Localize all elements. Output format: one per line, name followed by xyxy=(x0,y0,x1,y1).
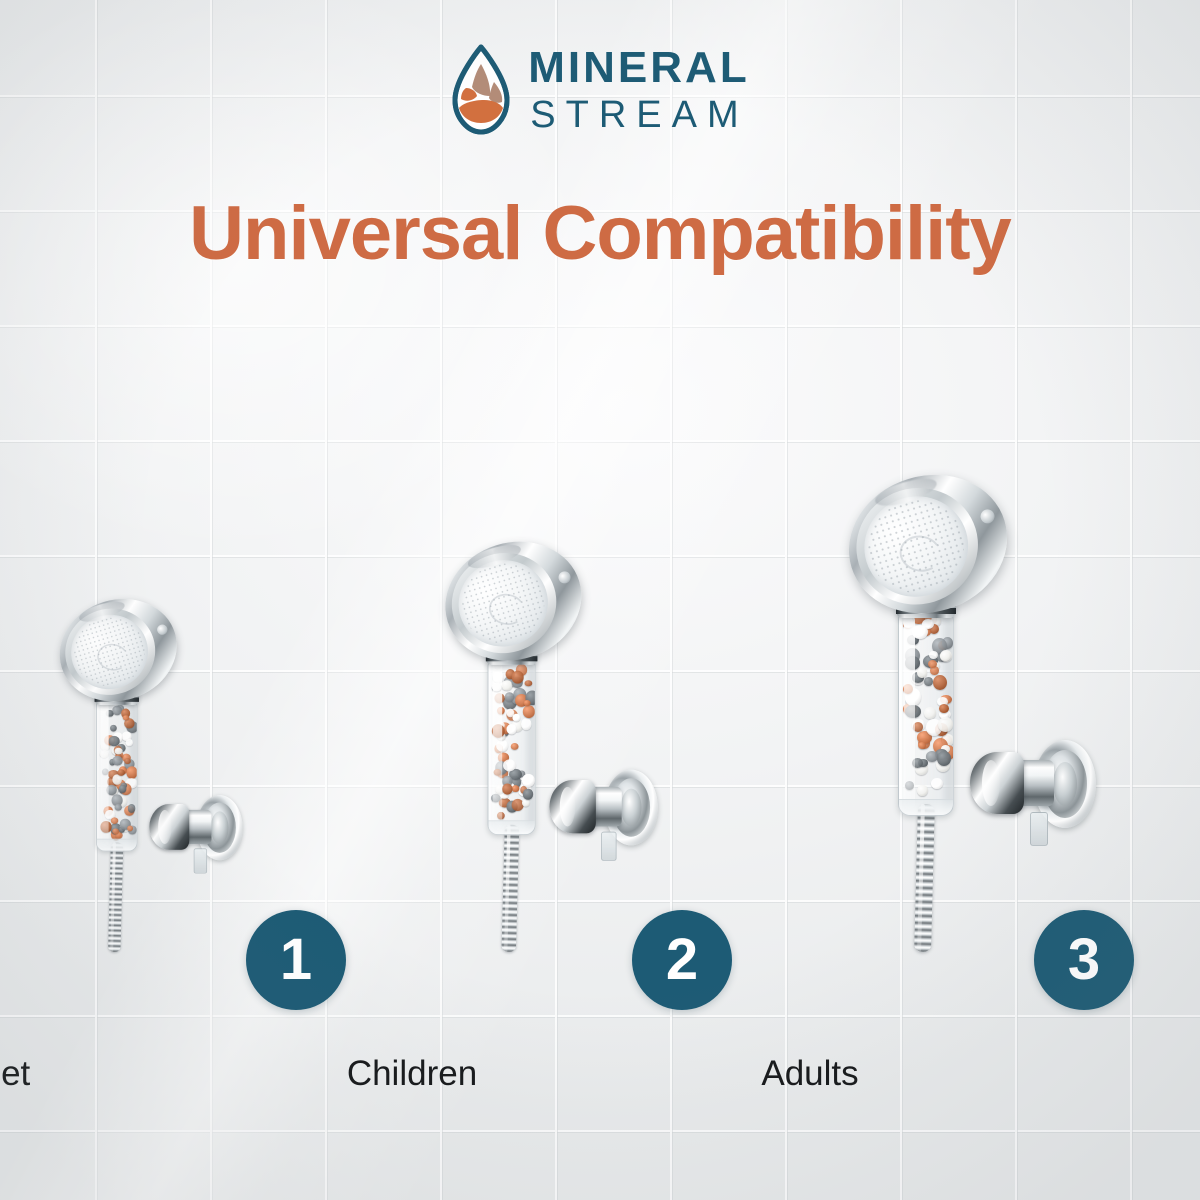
flexible-chrome-hose-icon xyxy=(914,804,935,952)
steps-row: 1 Pet xyxy=(0,290,1200,1120)
mineral-stone xyxy=(917,785,928,797)
mineral-stone xyxy=(931,778,943,789)
mineral-stone xyxy=(503,759,516,771)
mineral-stone xyxy=(501,680,512,690)
bracket-cradle xyxy=(149,804,189,850)
spray-face-icon xyxy=(430,525,596,677)
mineral-stone xyxy=(522,789,532,800)
brand-wordmark: MINERAL STREAM xyxy=(528,46,749,134)
mineral-stone xyxy=(125,739,133,747)
mineral-stone xyxy=(502,784,513,795)
step-column-2: 2 Children xyxy=(400,290,800,1120)
chamber-highlight xyxy=(493,662,502,829)
mineral-stone xyxy=(917,667,926,677)
mineral-stone xyxy=(938,717,953,732)
mineral-stone xyxy=(924,707,936,719)
mineral-stone xyxy=(939,704,949,713)
infographic-canvas: MINERAL STREAM Universal Compatibility xyxy=(0,0,1200,1200)
mineral-stone-filter-icon xyxy=(488,658,536,835)
page-title: Universal Compatibility xyxy=(0,190,1200,277)
bracket-release-tab xyxy=(194,848,207,873)
mineral-stone-filter-icon xyxy=(96,699,137,851)
mineral-stone xyxy=(124,758,130,764)
chamber-base xyxy=(97,839,137,851)
handheld-shower-head xyxy=(448,548,654,952)
brand-logo: MINERAL STREAM xyxy=(0,44,1200,136)
face-swirl-mark xyxy=(95,641,131,673)
mineral-stone xyxy=(507,724,517,734)
mineral-stone xyxy=(505,692,514,702)
mineral-stone xyxy=(117,769,124,776)
flexible-chrome-hose-icon xyxy=(501,825,519,953)
chamber-highlight xyxy=(100,703,108,847)
mineral-stone xyxy=(126,766,137,778)
mineral-stone xyxy=(523,700,530,706)
bracket-cradle xyxy=(549,780,595,833)
step-caption-1: Pet xyxy=(0,1054,204,1094)
mineral-stone xyxy=(522,799,530,807)
chamber-highlight xyxy=(904,615,915,809)
mineral-stone xyxy=(937,751,951,766)
step-badge-2: 2 xyxy=(632,910,732,1010)
wall-bracket-icon xyxy=(549,768,657,847)
spray-face-icon xyxy=(832,456,1025,633)
chamber-base xyxy=(488,820,534,834)
flexible-chrome-hose-icon xyxy=(108,842,123,952)
handheld-shower-head xyxy=(852,482,1092,952)
mineral-stone xyxy=(933,675,947,690)
face-swirl-mark xyxy=(486,591,527,628)
mineral-stone xyxy=(512,714,520,722)
bracket-cradle xyxy=(970,752,1024,814)
mineral-stone-filter-icon xyxy=(898,610,954,816)
mineral-stone xyxy=(511,743,519,750)
product-unit-1 xyxy=(62,604,240,952)
wall-bracket-icon xyxy=(149,794,242,862)
mineral-stone xyxy=(926,751,938,762)
product-unit-3 xyxy=(852,482,1092,952)
spray-face-icon xyxy=(47,585,190,716)
step-column-3: 3 Adults xyxy=(800,290,1200,1120)
mineral-stone xyxy=(523,705,535,718)
handheld-shower-head xyxy=(62,604,240,952)
brand-name-line-1: MINERAL xyxy=(528,46,749,90)
mineral-droplet-icon xyxy=(450,44,512,136)
mineral-stone xyxy=(115,804,122,811)
step-caption-2: Children xyxy=(212,1054,612,1094)
bracket-release-tab xyxy=(1030,812,1048,846)
mineral-stone xyxy=(115,747,123,754)
wall-bracket-icon xyxy=(970,738,1096,830)
step-caption-3: Adults xyxy=(610,1054,1010,1094)
step-badge-1: 1 xyxy=(246,910,346,1010)
product-unit-2 xyxy=(448,548,654,952)
mineral-stone xyxy=(112,756,123,766)
brand-name-line-2: STREAM xyxy=(528,96,749,134)
mineral-stone xyxy=(525,680,533,686)
bracket-release-tab xyxy=(601,832,616,861)
mineral-stone xyxy=(112,828,119,834)
mineral-stone xyxy=(924,677,932,686)
mineral-stone xyxy=(512,671,524,683)
face-swirl-mark xyxy=(897,532,945,575)
step-column-1: 1 Pet xyxy=(0,290,400,1120)
mineral-stone xyxy=(119,785,126,793)
step-badge-3: 3 xyxy=(1034,910,1134,1010)
mineral-stone xyxy=(521,718,531,729)
mineral-stone xyxy=(918,742,926,749)
mineral-stone xyxy=(127,825,133,831)
mineral-stone xyxy=(111,817,119,824)
chamber-base xyxy=(899,799,953,815)
mineral-stone xyxy=(110,725,116,732)
